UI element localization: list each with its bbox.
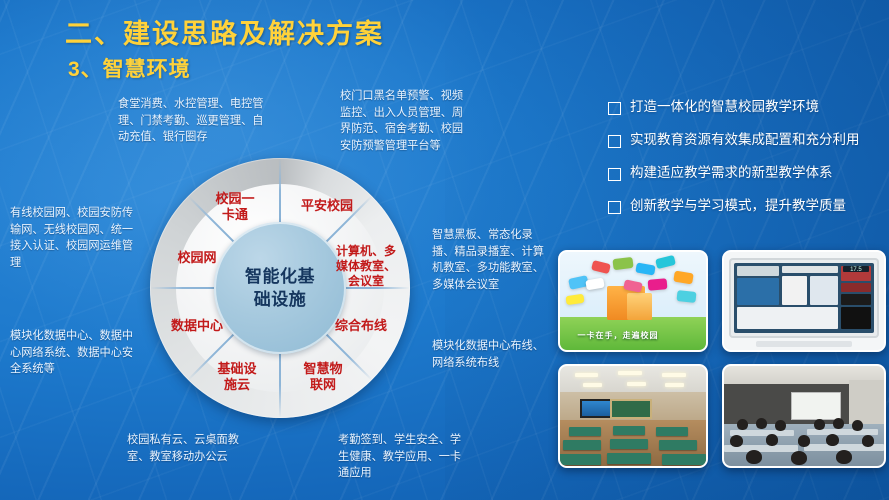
checkbox-square-icon: [608, 201, 621, 214]
segment-label-line2: 施云: [192, 377, 282, 393]
segment-label-line1: 综合布线: [316, 318, 406, 334]
donut-segment-smart-iot[interactable]: 智慧物 联网: [278, 361, 368, 393]
classroom-desk: [613, 426, 645, 435]
segment-label-line1: 计算机、多: [322, 244, 410, 259]
photo-interactive-whiteboard: 17.5: [722, 250, 886, 352]
hall-student: [852, 420, 863, 431]
hall-student: [775, 420, 786, 431]
bullet-item: 打造一体化的智慧校园教学环境: [608, 98, 884, 116]
illustration-card: [676, 290, 696, 303]
segment-label-line1: 数据中心: [152, 318, 242, 334]
screen-panel: [841, 283, 872, 293]
hall-student: [814, 419, 825, 430]
donut-center-label: 智能化基 础设施: [245, 265, 315, 311]
screen-panel: [737, 266, 779, 276]
segment-label-line2: 联网: [278, 377, 368, 393]
classroom-desk: [563, 440, 601, 450]
classroom-desk: [558, 454, 601, 465]
illustration-card: [612, 257, 634, 270]
screen-panel: [737, 307, 838, 330]
screen-panel: [782, 266, 838, 273]
donut-center-label-line2: 础设施: [245, 288, 315, 311]
donut-segment-infra-cloud[interactable]: 基础设 施云: [192, 361, 282, 393]
hall-student: [756, 418, 767, 429]
note-bottom-center: 考勤签到、学生安全、学生健康、教学应用、一卡通应用: [338, 432, 463, 482]
classroom-blackboard: [610, 399, 652, 419]
classroom-desk: [659, 440, 697, 450]
illustration-building-second: [627, 293, 652, 319]
hall-student: [746, 450, 762, 464]
checkbox-square-icon: [608, 168, 621, 181]
screen-panel: [782, 276, 807, 306]
screen-temperature: 17.5: [843, 266, 868, 272]
hall-student: [791, 451, 807, 465]
donut-segment-computer-room[interactable]: 计算机、多 媒体教室、 会议室: [322, 244, 410, 289]
whiteboard-bezel: 17.5: [729, 258, 879, 338]
segment-label-line1: 校园网: [152, 250, 242, 266]
donut-segment-campus-card[interactable]: 校园一 卡通: [190, 191, 280, 223]
photo-content: 一卡在手，走遍校园: [560, 252, 706, 350]
classroom-desk: [569, 427, 601, 436]
ceiling-light: [627, 382, 646, 386]
classroom-desk: [656, 427, 688, 436]
whiteboard-stand: [756, 341, 852, 347]
segment-label-line2: 卡通: [190, 207, 280, 223]
classroom-display: [580, 399, 612, 418]
photo-campus-card-illustration: 一卡在手，走遍校园: [558, 250, 708, 352]
checkbox-square-icon: [608, 102, 621, 115]
note-left-lower: 模块化数据中心、数据中心网络系统、数据中心安全系统等: [10, 328, 138, 378]
note-top-center: 校门口黑名单预警、视频监控、出入人员管理、周界防范、宿舍考勤、校园安防预警管理平…: [340, 88, 468, 154]
ceiling-light: [618, 371, 641, 375]
bullet-item: 实现教育资源有效集成配置和充分利用: [608, 131, 884, 149]
classroom-desk: [610, 439, 648, 449]
segment-label-line3: 会议室: [322, 274, 410, 289]
note-left-middle: 有线校园网、校园安防传输网、无线校园网、统一接入认证、校园网运维管理: [10, 205, 138, 271]
bullet-label: 实现教育资源有效集成配置和充分利用: [630, 131, 860, 149]
photo-lecture-hall: [722, 364, 886, 468]
screen-panel: [841, 307, 872, 330]
segment-label-line2: 媒体教室、: [322, 259, 410, 274]
screen-panel: [841, 294, 872, 305]
photo-classroom-green-desks: [558, 364, 708, 468]
classroom-desk: [607, 453, 651, 464]
slide-title: 二、建设思路及解决方案: [65, 12, 384, 51]
screen-panel: [737, 278, 779, 305]
slide-subtitle: 3、智慧环境: [68, 53, 191, 83]
hall-student: [730, 435, 743, 447]
ceiling-light: [575, 373, 598, 377]
hall-student: [833, 418, 844, 429]
donut-center-label-line1: 智能化基: [245, 265, 315, 288]
hall-student: [798, 435, 811, 447]
ceiling-light: [662, 373, 685, 377]
classroom-desk: [662, 454, 706, 465]
bullet-item: 创新教学与学习模式，提升教学质量: [608, 197, 884, 215]
screen-panel: [810, 276, 838, 306]
infrastructure-donut-diagram: 智能化基 础设施 校园一 卡通 平安校园 计算机、多 媒体教室、 会议室 综合布…: [150, 158, 410, 418]
hall-projection-screen: [791, 392, 841, 420]
note-right-lower: 模块化数据中心布线、网络系统布线: [432, 338, 552, 371]
donut-segment-safe-campus[interactable]: 平安校园: [282, 198, 372, 214]
segment-label-line1: 平安校园: [282, 198, 372, 214]
segment-label-line1: 基础设: [192, 361, 282, 377]
checkbox-square-icon: [608, 135, 621, 148]
photo-caption: 一卡在手，走遍校园: [578, 330, 659, 341]
photo-content: [560, 366, 706, 466]
photo-content: 17.5: [724, 252, 884, 350]
hall-student: [737, 419, 748, 430]
hall-student: [836, 450, 852, 464]
ceiling-light: [665, 383, 684, 387]
donut-segment-campus-network[interactable]: 校园网: [152, 250, 242, 266]
hall-student: [826, 434, 839, 446]
benefits-bullet-list: 打造一体化的智慧校园教学环境 实现教育资源有效集成配置和充分利用 构建适应教学需…: [608, 98, 884, 230]
illustration-card: [673, 270, 693, 284]
hall-student: [766, 434, 779, 446]
segment-label-line1: 校园一: [190, 191, 280, 207]
bullet-label: 构建适应教学需求的新型教学体系: [630, 164, 833, 182]
classroom-ceiling: [560, 366, 706, 392]
hall-student: [862, 435, 875, 447]
donut-segment-cabling[interactable]: 综合布线: [316, 318, 406, 334]
photo-content: [724, 366, 884, 466]
bullet-label: 打造一体化的智慧校园教学环境: [630, 98, 819, 116]
ceiling-light: [583, 383, 602, 387]
bullet-item: 构建适应教学需求的新型教学体系: [608, 164, 884, 182]
illustration-card: [647, 279, 667, 291]
note-bottom-left: 校园私有云、云桌面教室、教室移动办公云: [127, 432, 247, 465]
note-top-left: 食堂消费、水控管理、电控管理、门禁考勤、巡更管理、自动充值、银行圈存: [118, 96, 268, 146]
donut-segment-data-center[interactable]: 数据中心: [152, 318, 242, 334]
segment-label-line1: 智慧物: [278, 361, 368, 377]
note-right-upper: 智慧黑板、常态化录播、精品录播室、计算机教室、多功能教室、多媒体会议室: [432, 227, 552, 293]
whiteboard-screen: 17.5: [734, 263, 874, 333]
bullet-label: 创新教学与学习模式，提升教学质量: [630, 197, 846, 215]
